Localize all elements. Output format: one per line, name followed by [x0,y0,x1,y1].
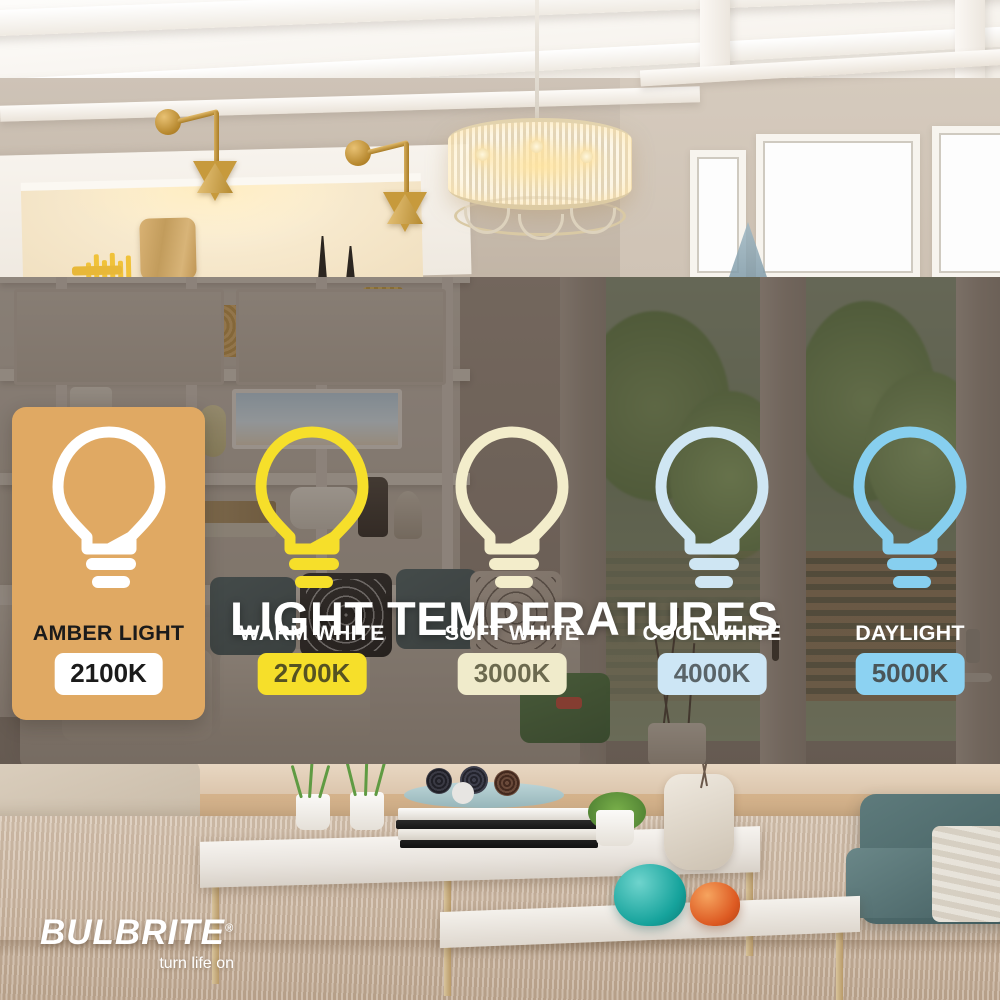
book [400,840,598,848]
decor-ball [452,782,474,804]
temperature-card-amber-light[interactable]: AMBER LIGHT 2100K [12,407,205,720]
registered-trademark-icon: ® [225,922,234,934]
chandelier-bulb [580,150,593,163]
chandelier-bulb [476,148,489,161]
gold-crown-base [72,265,122,275]
brand-logo: BULBRITE® turn life on [40,915,234,972]
crystal-chandelier [430,0,650,240]
light-bulb-icon [851,425,969,605]
plant-pot [296,794,330,830]
plant-pot [596,810,634,846]
brand-wordmark: BULBRITE [40,913,225,952]
temperature-label: WARM WHITE [212,623,412,645]
ceiling-beam-vertical [955,0,985,82]
light-temperature-row: LIGHT TEMPERATURES AMBER LIGHT 2100K [0,277,1000,764]
chandelier-chain [535,0,539,120]
temperature-card-cool-white[interactable]: COOL WHITE 4000K [612,407,812,720]
throw-blanket [932,826,1000,922]
light-bulb-icon [253,425,371,605]
kelvin-badge[interactable]: 2100K [54,653,163,695]
kelvin-badge[interactable]: 5000K [856,653,965,695]
bottom-scene-coffee-table: BULBRITE® turn life on [0,764,1000,1000]
chandelier-bulb [530,140,543,153]
orange-glass-vase [690,882,740,926]
kelvin-badge[interactable]: 3000K [458,653,567,695]
temperature-label: DAYLIGHT [810,623,1000,645]
table-leg [836,932,843,1000]
light-bulb-icon [453,425,571,605]
plant-pot [350,792,384,830]
chandelier-arm [518,214,564,240]
decor-ball [494,770,520,796]
brand-tagline: turn life on [40,956,234,972]
top-scene-ceiling-chandelier [0,0,1000,277]
brand-name: BULBRITE® [40,915,234,950]
light-bulb-icon [653,425,771,605]
temperature-card-daylight[interactable]: DAYLIGHT 5000K [810,407,1000,720]
window-pane [932,126,1000,277]
window-pane [756,134,920,277]
kelvin-badge[interactable]: 2700K [258,653,367,695]
light-bulb-icon [50,425,168,605]
ceramic-urn [664,774,734,870]
temperature-label: COOL WHITE [612,623,812,645]
book [398,808,602,820]
wood-decor-object [139,217,196,277]
teal-glass-vase [614,864,686,926]
temperature-card-warm-white[interactable]: WARM WHITE 2700K [212,407,412,720]
temperature-label: SOFT WHITE [412,623,612,645]
book [398,829,600,840]
promo-banner: LIGHT TEMPERATURES AMBER LIGHT 2100K [0,0,1000,1000]
book [396,820,602,829]
temperature-card-soft-white[interactable]: SOFT WHITE 3000K [412,407,612,720]
decor-ball [426,768,452,794]
temperature-label: AMBER LIGHT [12,623,205,645]
kelvin-badge[interactable]: 4000K [658,653,767,695]
